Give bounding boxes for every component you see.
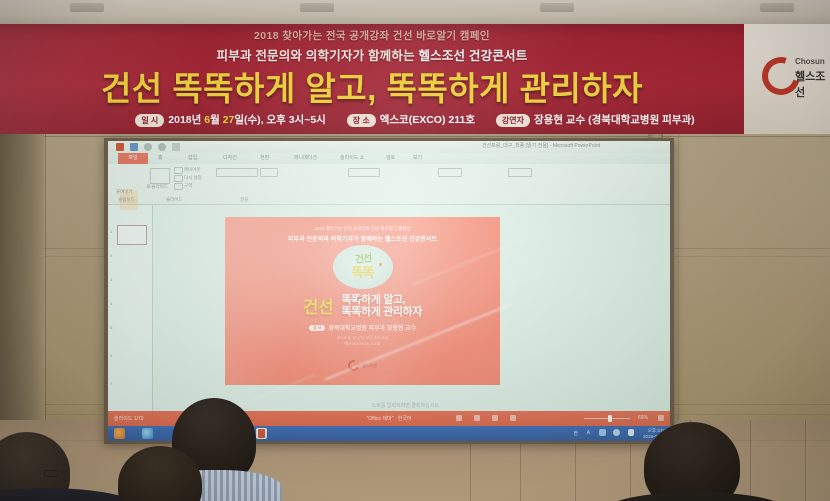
ko-ime-icon[interactable]: 한 — [573, 430, 578, 437]
volume-icon[interactable] — [613, 429, 620, 436]
reset-label[interactable]: 다시 설정 — [184, 175, 202, 181]
redo-icon[interactable] — [158, 143, 166, 151]
powerpoint-app-icon[interactable] — [116, 143, 124, 151]
customize-qat-icon[interactable] — [172, 143, 180, 151]
slide-speaker-line: 강 사경북대학교병원 피부과 장용현 교수 — [225, 323, 500, 332]
tab-review[interactable]: 검토 — [386, 153, 395, 164]
banner-speaker-pill: 강연자 — [496, 114, 530, 127]
banner-speaker-group: 강연자장용현 교수 (경북대학교병원 피부과) — [496, 112, 695, 127]
banner-date-pill: 일 시 — [135, 114, 164, 127]
arrange-button[interactable] — [438, 168, 462, 177]
zoom-slider-knob[interactable] — [608, 415, 612, 422]
font-group-label: 글꼴 — [240, 197, 248, 203]
shapes-gallery[interactable] — [348, 168, 380, 177]
tab-home[interactable]: 홈 — [158, 153, 163, 164]
chosun-c-logo-icon — [346, 358, 361, 373]
sorter-view-icon[interactable] — [474, 415, 480, 421]
thumb-number-5: 5 — [110, 325, 112, 330]
normal-view-icon[interactable] — [456, 415, 462, 421]
layout-icon[interactable] — [174, 167, 183, 174]
slide-speaker-text: 경북대학교병원 피부과 장용현 교수 — [328, 326, 416, 332]
tab-view[interactable]: 보기 — [413, 153, 422, 164]
banner-date-group: 일 시2018년 6월 27일(수), 오후 3시~5시 — [135, 112, 326, 127]
find-button[interactable] — [508, 168, 532, 177]
reading-view-icon[interactable] — [492, 415, 498, 421]
banner-place-value: 엑스코(EXCO) 211호 — [380, 114, 475, 126]
thumb-number-2: 2 — [110, 253, 112, 258]
slideshow-icon[interactable] — [510, 415, 516, 421]
slide-thumbnail-pane[interactable]: 1 2 3 4 5 6 7 — [108, 205, 153, 411]
hall-left-shadow — [0, 132, 44, 422]
thumb-number-6: 6 — [110, 353, 112, 358]
section-icon[interactable] — [174, 183, 183, 190]
slide-canvas[interactable]: 2018 찾아가는 전국 공개강좌 건선 바로알기 캠페인 피부과 전문의와 의… — [152, 205, 670, 411]
slide-when-block: 2018. 6. 27.(수) 오후 3시~5시 엑스코(EXCO) 211호 — [225, 335, 500, 347]
fit-slide-icon[interactable] — [658, 415, 664, 421]
paste-label[interactable]: 붙여넣기 — [116, 189, 133, 195]
status-slide-indicator: 슬라이드 1/70 — [114, 415, 144, 422]
internet-explorer-icon[interactable] — [142, 428, 153, 439]
ppt-title-bar-text: 건선포럼_대구_최종 [읽기 전용] - Microsoft PowerPoin… — [482, 142, 600, 149]
audience-head-right-man — [644, 422, 740, 501]
tab-transition[interactable]: 전환 — [260, 153, 269, 164]
banner-campaign-line: 2018 찾아가는 전국 공개강좌 건선 바로알기 캠페인 — [0, 28, 744, 43]
banner-date-post: 일(수), 오후 3시~5시 — [234, 114, 326, 126]
banner-date-mid: 월 — [210, 114, 223, 126]
lecture-hall-scene: 2018 찾아가는 전국 공개강좌 건선 바로알기 캠페인 피부과 전문의와 의… — [0, 0, 830, 501]
banner-place-group: 장 소엑스코(EXCO) 211호 — [347, 112, 475, 127]
slide-thumbnail-selected[interactable] — [117, 225, 147, 245]
ime-mode-icon[interactable]: A — [587, 430, 590, 436]
tab-design[interactable]: 디자인 — [223, 153, 237, 164]
powerpoint-icon[interactable] — [256, 428, 267, 439]
reset-icon[interactable] — [174, 175, 183, 182]
slide-title-line2: 똑똑하게 관리하자 — [342, 306, 422, 318]
zoom-level[interactable]: 66% — [638, 415, 648, 421]
new-slide-label[interactable]: 새 슬라이드 — [146, 184, 168, 190]
thumb-number-4: 4 — [110, 301, 112, 306]
badge-dot-icon — [379, 263, 382, 266]
save-icon[interactable] — [130, 143, 138, 151]
tab-insert[interactable]: 삽입 — [188, 153, 197, 164]
status-theme-value: "Office 테마" — [366, 416, 393, 422]
ppt-quick-access-toolbar[interactable]: 건선포럼_대구_최종 [읽기 전용] - Microsoft PowerPoin… — [108, 141, 670, 153]
font-size-combo[interactable] — [260, 168, 278, 177]
banner-subtitle-prefix: 피부과 전문의와 의학기자가 함께하는 — [217, 49, 419, 63]
current-slide[interactable]: 2018 찾아가는 전국 공개강좌 건선 바로알기 캠페인 피부과 전문의와 의… — [225, 217, 500, 385]
section-label[interactable]: 구역 — [184, 183, 192, 189]
tab-animation[interactable]: 애니메이션 — [294, 153, 317, 164]
badge-text-bottom: 똑똑 — [333, 262, 393, 281]
network-icon[interactable] — [599, 429, 606, 436]
slides-group-label: 슬라이드 — [166, 197, 183, 203]
hall-ceiling — [0, 0, 830, 26]
banner-title: 건선 똑똑하게 알고, 똑똑하게 관리하자 — [0, 62, 744, 110]
banner-date-pre: 2018년 — [168, 114, 204, 126]
banner-subtitle-strong: 헬스조선 건강콘서트 — [418, 49, 527, 63]
status-language[interactable]: 한국어 — [398, 416, 412, 422]
slide-speaker-pill: 강 사 — [309, 325, 325, 331]
font-name-combo[interactable] — [216, 168, 258, 177]
shield-icon[interactable] — [628, 429, 634, 436]
oval-badge-icon: 건선 똑똑 — [333, 245, 393, 289]
tab-slideshow[interactable]: 슬라이드 쇼 — [340, 153, 364, 164]
slide-footer-logo-text: 헬스조선 — [362, 363, 377, 369]
sponsor-name-top: Chosun — [795, 57, 825, 66]
slide-when-line2: 엑스코(EXCO) 211호 — [225, 341, 500, 347]
slide-footer-logo: 헬스조선 — [225, 357, 500, 375]
slide-campaign-line: 2018 찾아가는 전국 공개강좌 건선 바로알기 캠페인 — [225, 226, 500, 232]
zoom-slider[interactable] — [584, 418, 630, 419]
status-theme-text: "Office 테마" 한국어 — [366, 415, 411, 422]
banner-info-row: 일 시2018년 6월 27일(수), 오후 3시~5시 장 소엑스코(EXCO… — [0, 112, 830, 127]
clipboard-group-label: 클립보드 — [118, 197, 135, 203]
projection-screen: 건선포럼_대구_최종 [읽기 전용] - Microsoft PowerPoin… — [108, 141, 670, 441]
thumb-number-3: 3 — [110, 277, 112, 282]
mouse-cursor-icon — [357, 297, 361, 302]
slide-title-keyword: 건선 — [303, 293, 333, 318]
slide-title-block: 건선 똑똑하게 알고, 똑똑하게 관리하자 — [225, 293, 500, 318]
banner-place-pill: 장 소 — [347, 114, 376, 127]
banner-date-day: 27 — [223, 114, 235, 126]
thumb-number-1: 1 — [110, 229, 112, 234]
slide-subtitle-line: 피부과 전문의와 의학기자가 함께하는 헬스조선 건강콘서트 — [225, 234, 500, 243]
ppt-ribbon[interactable]: 붙여넣기 클립보드 새 슬라이드 레이아웃 다시 설정 구역 슬라이드 글꼴 — [108, 164, 670, 205]
firefox-icon[interactable] — [114, 428, 125, 439]
new-slide-icon[interactable] — [150, 168, 170, 184]
sponsor-name-bottom: 헬스조선 — [795, 68, 830, 100]
slide-title-line1: 똑똑하게 알고, — [342, 294, 422, 306]
eyeglasses-icon — [44, 470, 58, 477]
tab-file[interactable]: 파일 — [118, 153, 148, 164]
undo-icon[interactable] — [144, 143, 152, 151]
banner-speaker-value: 장용현 교수 (경북대학교병원 피부과) — [534, 114, 695, 126]
layout-label[interactable]: 레이아웃 — [184, 167, 201, 173]
thumb-number-7: 7 — [110, 381, 112, 386]
